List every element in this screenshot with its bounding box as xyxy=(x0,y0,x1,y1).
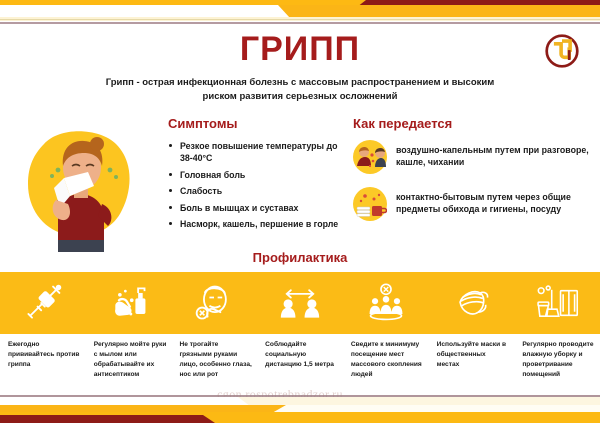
page-subtitle: Грипп - острая инфекционная болезнь с ма… xyxy=(90,76,510,104)
transmission-section: Как передается воздушно-капельным путем … xyxy=(353,116,593,234)
social-distance-icon xyxy=(257,272,343,334)
list-item: контактно-бытовым путем через общие пред… xyxy=(353,187,593,221)
top-decorative-banner xyxy=(0,0,600,26)
two-people-talking-icon xyxy=(353,140,387,174)
transmission-heading: Как передается xyxy=(353,116,593,131)
cgon-rospotrebnadzor-logo xyxy=(544,33,580,69)
sick-person-sneezing-illustration xyxy=(14,122,146,254)
transmission-text: контактно-бытовым путем через общие пред… xyxy=(396,187,593,216)
dishes-and-cup-icon xyxy=(353,187,387,221)
symptoms-section: Симптомы Резкое повышение температуры до… xyxy=(168,116,348,235)
prevention-caption: Регулярно проводите влажную уборку и про… xyxy=(514,340,600,380)
prevention-heading: Профилактика xyxy=(0,250,600,265)
cleaning-ventilation-icon xyxy=(514,272,600,334)
list-item: Слабость xyxy=(168,185,348,197)
list-item: воздушно-капельным путем при разговоре, … xyxy=(353,140,593,174)
symptoms-list: Резкое повышение температуры до 38-40°С … xyxy=(168,140,348,231)
avoid-crowds-icon xyxy=(343,272,429,334)
list-item: Головная боль xyxy=(168,169,348,181)
top-banner-cream-hairline xyxy=(0,19,600,20)
prevention-caption: Регулярно мойте руки с мылом или обрабат… xyxy=(86,340,172,380)
bottom-decorative-banner xyxy=(0,395,600,423)
prevention-caption-row: Ежегодно прививайтесь против гриппа Регу… xyxy=(0,340,600,380)
bottom-banner-maroon-accent xyxy=(0,415,215,423)
face-mask-icon xyxy=(429,272,515,334)
hand-washing-soap-icon xyxy=(86,272,172,334)
influenza-infographic-poster: ГРИПП Грипп - острая инфекционная болезн… xyxy=(0,0,600,423)
transmission-text: воздушно-капельным путем при разговоре, … xyxy=(396,140,593,169)
page-title: ГРИПП xyxy=(0,32,600,66)
list-item: Насморк, кашель, першение в горле xyxy=(168,218,348,230)
prevention-caption: Сведите к минимуму посещение мест массов… xyxy=(343,340,429,380)
syringe-icon xyxy=(0,272,86,334)
top-banner-maroon-hairline xyxy=(0,22,600,24)
no-face-touching-icon xyxy=(171,272,257,334)
list-item: Боль в мышцах и суставах xyxy=(168,202,348,214)
prevention-caption: Ежегодно прививайтесь против гриппа xyxy=(0,340,86,380)
symptoms-heading: Симптомы xyxy=(168,116,348,131)
prevention-caption: Соблюдайте социальную дистанцию 1,5 метр… xyxy=(257,340,343,380)
list-item: Резкое повышение температуры до 38-40°С xyxy=(168,140,348,165)
prevention-caption: Не трогайте грязными руками лицо, особен… xyxy=(171,340,257,380)
prevention-icon-row xyxy=(0,272,600,334)
prevention-caption: Используйте маски в общественных местах xyxy=(429,340,515,380)
